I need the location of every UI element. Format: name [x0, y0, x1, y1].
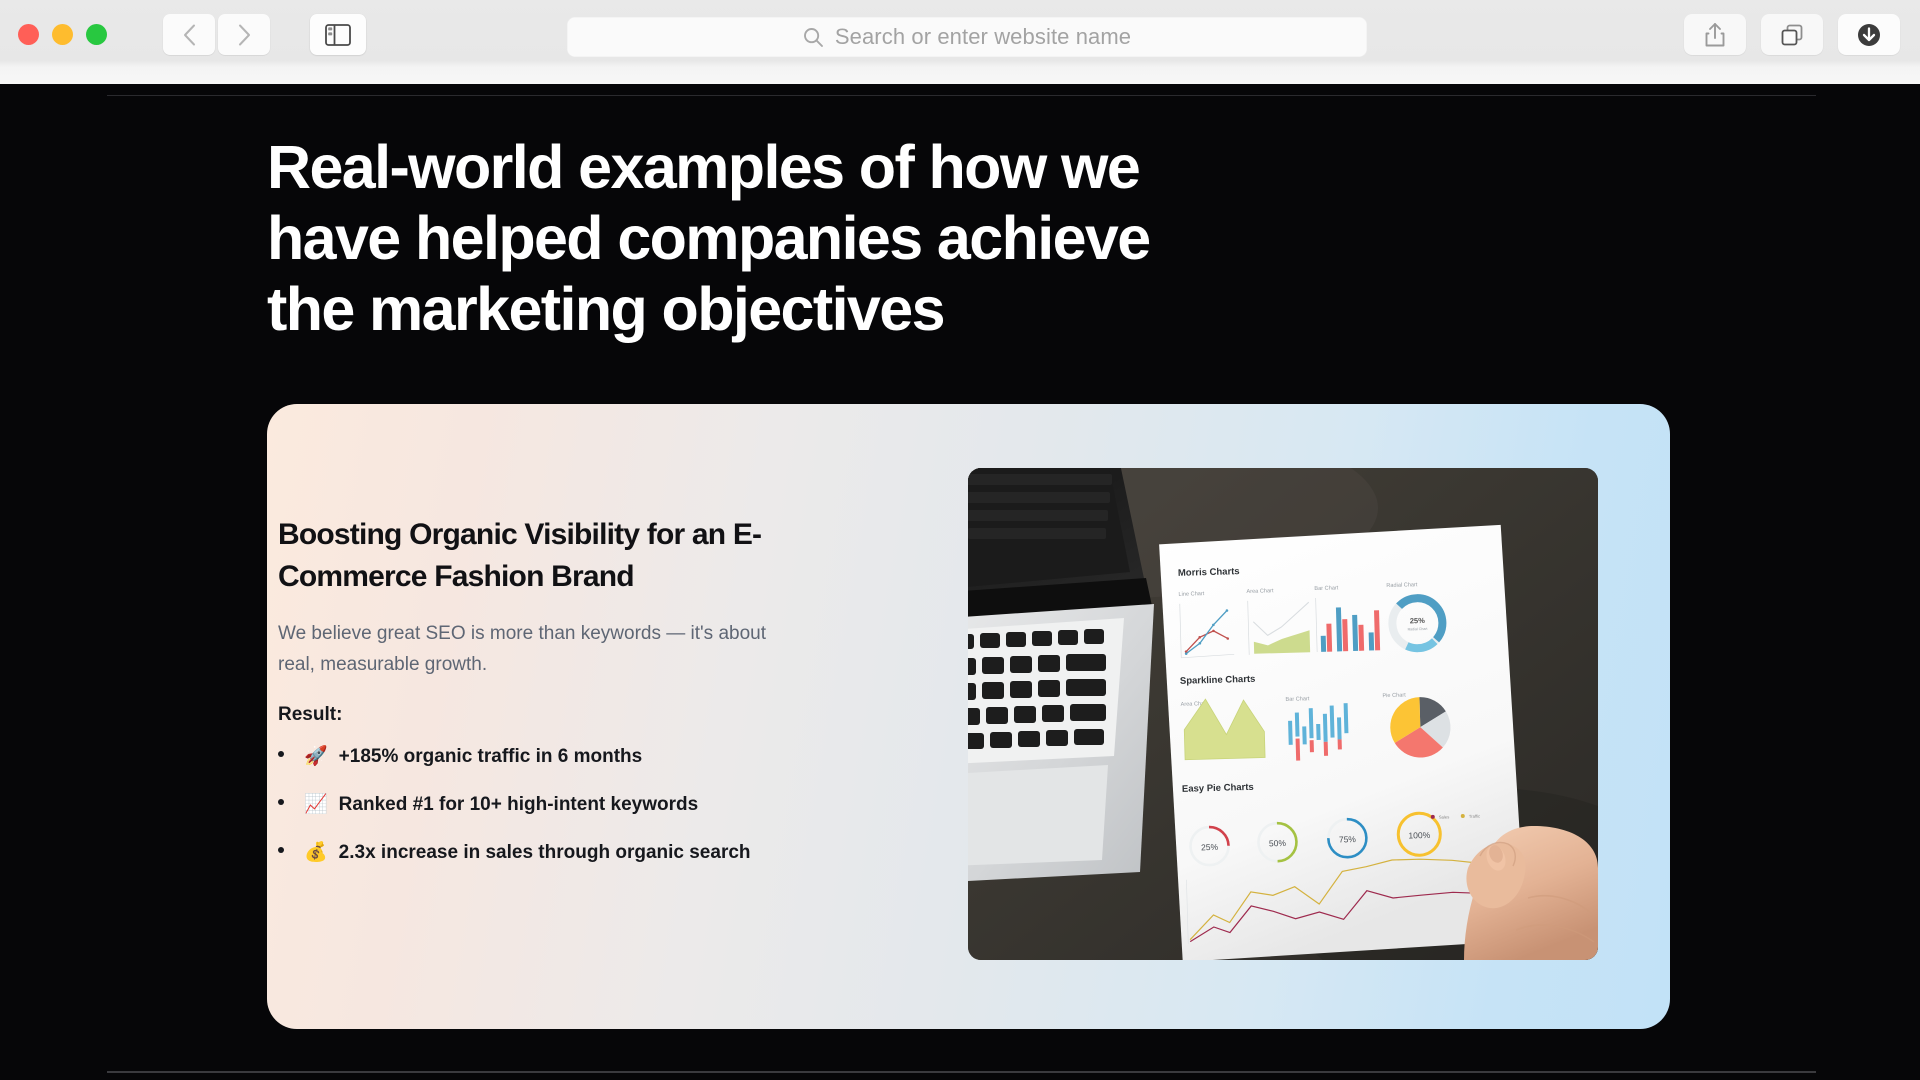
svg-text:Pie Chart: Pie Chart: [1382, 693, 1406, 700]
download-icon: [1855, 21, 1883, 49]
case-study-title: Boosting Organic Visibility for an E-Com…: [278, 514, 838, 598]
list-item: 📈 Ranked #1 for 10+ high-intent keywords: [278, 792, 887, 818]
svg-text:Radial Chart: Radial Chart: [1386, 582, 1418, 589]
window-traffic-lights: [18, 24, 107, 45]
top-divider: [107, 95, 1816, 96]
navigation-buttons: [163, 14, 270, 55]
svg-text:Traffic: Traffic: [1469, 814, 1481, 819]
search-icon: [803, 27, 824, 48]
page-content: Real-world examples of how we have helpe…: [0, 84, 1920, 1080]
share-button[interactable]: [1684, 14, 1746, 55]
svg-text:Bar Chart: Bar Chart: [1285, 696, 1310, 703]
svg-text:Bar Chart: Bar Chart: [1314, 585, 1339, 592]
case-study-card: Boosting Organic Visibility for an E-Com…: [267, 404, 1670, 1029]
browser-toolbar: Search or enter website name: [0, 0, 1920, 84]
svg-text:Area Chart: Area Chart: [1246, 588, 1274, 595]
svg-text:100%: 100%: [1408, 830, 1430, 841]
chevron-right-icon: [238, 24, 251, 46]
svg-text:25%: 25%: [1201, 842, 1219, 852]
result-text: 2.3x increase in sales through organic s…: [339, 840, 751, 866]
close-window-button[interactable]: [18, 24, 39, 45]
forward-button[interactable]: [218, 14, 270, 55]
result-label: Result:: [278, 704, 887, 726]
svg-text:75%: 75%: [1339, 834, 1357, 844]
desk-analytics-photo: Morris Charts Line Chart Area Chart Bar …: [968, 468, 1598, 960]
bullet-icon: [278, 847, 284, 853]
bullet-icon: [278, 799, 284, 805]
svg-text:Line Chart: Line Chart: [1178, 591, 1204, 598]
back-button[interactable]: [163, 14, 215, 55]
address-bar[interactable]: Search or enter website name: [567, 17, 1367, 57]
bottom-divider: [107, 1071, 1816, 1073]
svg-text:Easy Pie Charts: Easy Pie Charts: [1182, 782, 1254, 795]
toolbar-actions: [1684, 14, 1900, 55]
svg-text:Sales: Sales: [1439, 814, 1450, 819]
chart-increasing-icon: 📈: [304, 792, 328, 818]
bullet-icon: [278, 751, 284, 757]
result-text: Ranked #1 for 10+ high-intent keywords: [339, 792, 699, 818]
svg-text:25%: 25%: [1410, 616, 1426, 625]
rocket-icon: 🚀: [304, 744, 328, 770]
list-item: 💰 2.3x increase in sales through organic…: [278, 840, 887, 866]
page-title: Real-world examples of how we have helpe…: [267, 132, 1247, 345]
zoom-window-button[interactable]: [86, 24, 107, 45]
svg-text:Radial Chart: Radial Chart: [1408, 627, 1428, 632]
case-study-description: We believe great SEO is more than keywor…: [278, 618, 768, 680]
address-input-placeholder[interactable]: Search or enter website name: [835, 24, 1131, 50]
svg-text:Sparkline Charts: Sparkline Charts: [1180, 674, 1256, 687]
svg-text:Morris Charts: Morris Charts: [1178, 566, 1240, 579]
svg-text:50%: 50%: [1269, 838, 1287, 848]
result-text: +185% organic traffic in 6 months: [339, 744, 643, 770]
share-icon: [1704, 22, 1726, 48]
case-study-photo: Morris Charts Line Chart Area Chart Bar …: [968, 468, 1598, 960]
case-study-text-column: Boosting Organic Visibility for an E-Com…: [267, 404, 887, 1029]
chevron-left-icon: [183, 24, 196, 46]
sidebar-icon: [325, 24, 351, 46]
toggle-sidebar-button[interactable]: [310, 14, 366, 55]
tab-overview-button[interactable]: [1761, 14, 1823, 55]
money-bag-icon: 💰: [304, 840, 328, 866]
minimize-window-button[interactable]: [52, 24, 73, 45]
list-item: 🚀 +185% organic traffic in 6 months: [278, 744, 887, 770]
tab-overview-icon: [1780, 23, 1804, 47]
downloads-button[interactable]: [1838, 14, 1900, 55]
result-list: 🚀 +185% organic traffic in 6 months 📈 Ra…: [278, 744, 887, 866]
